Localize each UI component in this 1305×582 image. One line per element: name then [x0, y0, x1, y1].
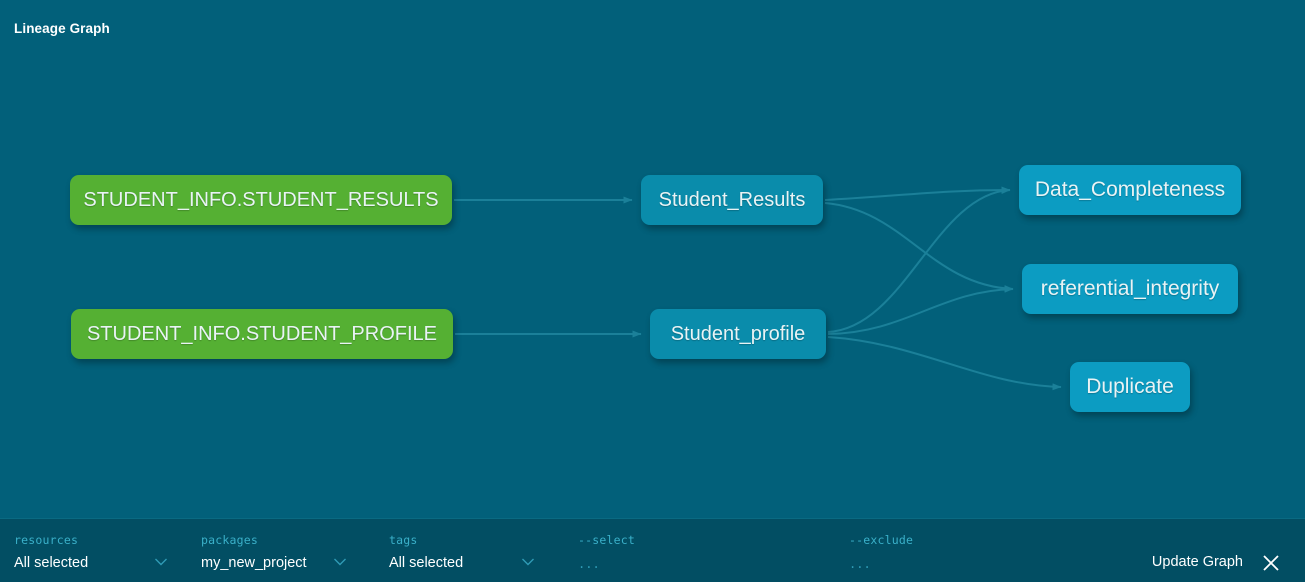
node-label: referential_integrity [1041, 277, 1220, 301]
filter-value-select[interactable]: ... [578, 557, 600, 571]
filter-value-resources[interactable]: All selected [14, 555, 88, 571]
close-icon[interactable] [1259, 551, 1283, 575]
filter-label-select: --select [578, 533, 635, 547]
filter-label-exclude: --exclude [849, 533, 913, 547]
graph-node-data-completeness-test[interactable]: Data_Completeness [1019, 165, 1241, 215]
edge-model-profile-to-data-completeness [828, 190, 1010, 332]
graph-node-student-results-model[interactable]: Student_Results [641, 175, 823, 225]
node-label: STUDENT_INFO.STUDENT_PROFILE [87, 323, 437, 346]
edge-model-results-to-referential-integrity [825, 203, 1013, 289]
update-graph-button[interactable]: Update Graph [1152, 554, 1243, 570]
node-label: STUDENT_INFO.STUDENT_RESULTS [83, 189, 438, 212]
filter-value-exclude[interactable]: ... [849, 557, 871, 571]
node-label: Duplicate [1086, 375, 1174, 399]
filter-value-packages[interactable]: my_new_project [201, 555, 307, 571]
edge-layer [0, 0, 1305, 518]
filter-value-tags[interactable]: All selected [389, 555, 463, 571]
lineage-graph-panel: Lineage Graph STUDENT_INFO.STUDENT_RESUL… [0, 0, 1305, 518]
graph-filter-toolbar: resources All selected packages my_new_p… [0, 518, 1305, 582]
graph-node-student-results-source[interactable]: STUDENT_INFO.STUDENT_RESULTS [70, 175, 452, 225]
chevron-down-icon[interactable] [154, 557, 168, 567]
edge-model-profile-to-referential-integrity [828, 289, 1013, 334]
filter-exclude[interactable]: --exclude ... [849, 519, 1099, 582]
filter-label-packages: packages [201, 533, 258, 547]
filter-label-tags: tags [389, 533, 418, 547]
chevron-down-icon[interactable] [333, 557, 347, 567]
node-label: Data_Completeness [1035, 178, 1225, 202]
node-label: Student_Results [659, 189, 806, 212]
filter-packages[interactable]: packages my_new_project [201, 519, 371, 582]
filter-select[interactable]: --select ... [578, 519, 828, 582]
filter-resources[interactable]: resources All selected [14, 519, 184, 582]
graph-node-duplicate-test[interactable]: Duplicate [1070, 362, 1190, 412]
chevron-down-icon[interactable] [521, 557, 535, 567]
graph-node-referential-integrity-test[interactable]: referential_integrity [1022, 264, 1238, 314]
node-label: Student_profile [671, 323, 806, 346]
graph-node-student-profile-model[interactable]: Student_profile [650, 309, 826, 359]
graph-node-student-profile-source[interactable]: STUDENT_INFO.STUDENT_PROFILE [71, 309, 453, 359]
filter-tags[interactable]: tags All selected [389, 519, 559, 582]
filter-label-resources: resources [14, 533, 78, 547]
edge-model-profile-to-duplicate [828, 337, 1061, 387]
